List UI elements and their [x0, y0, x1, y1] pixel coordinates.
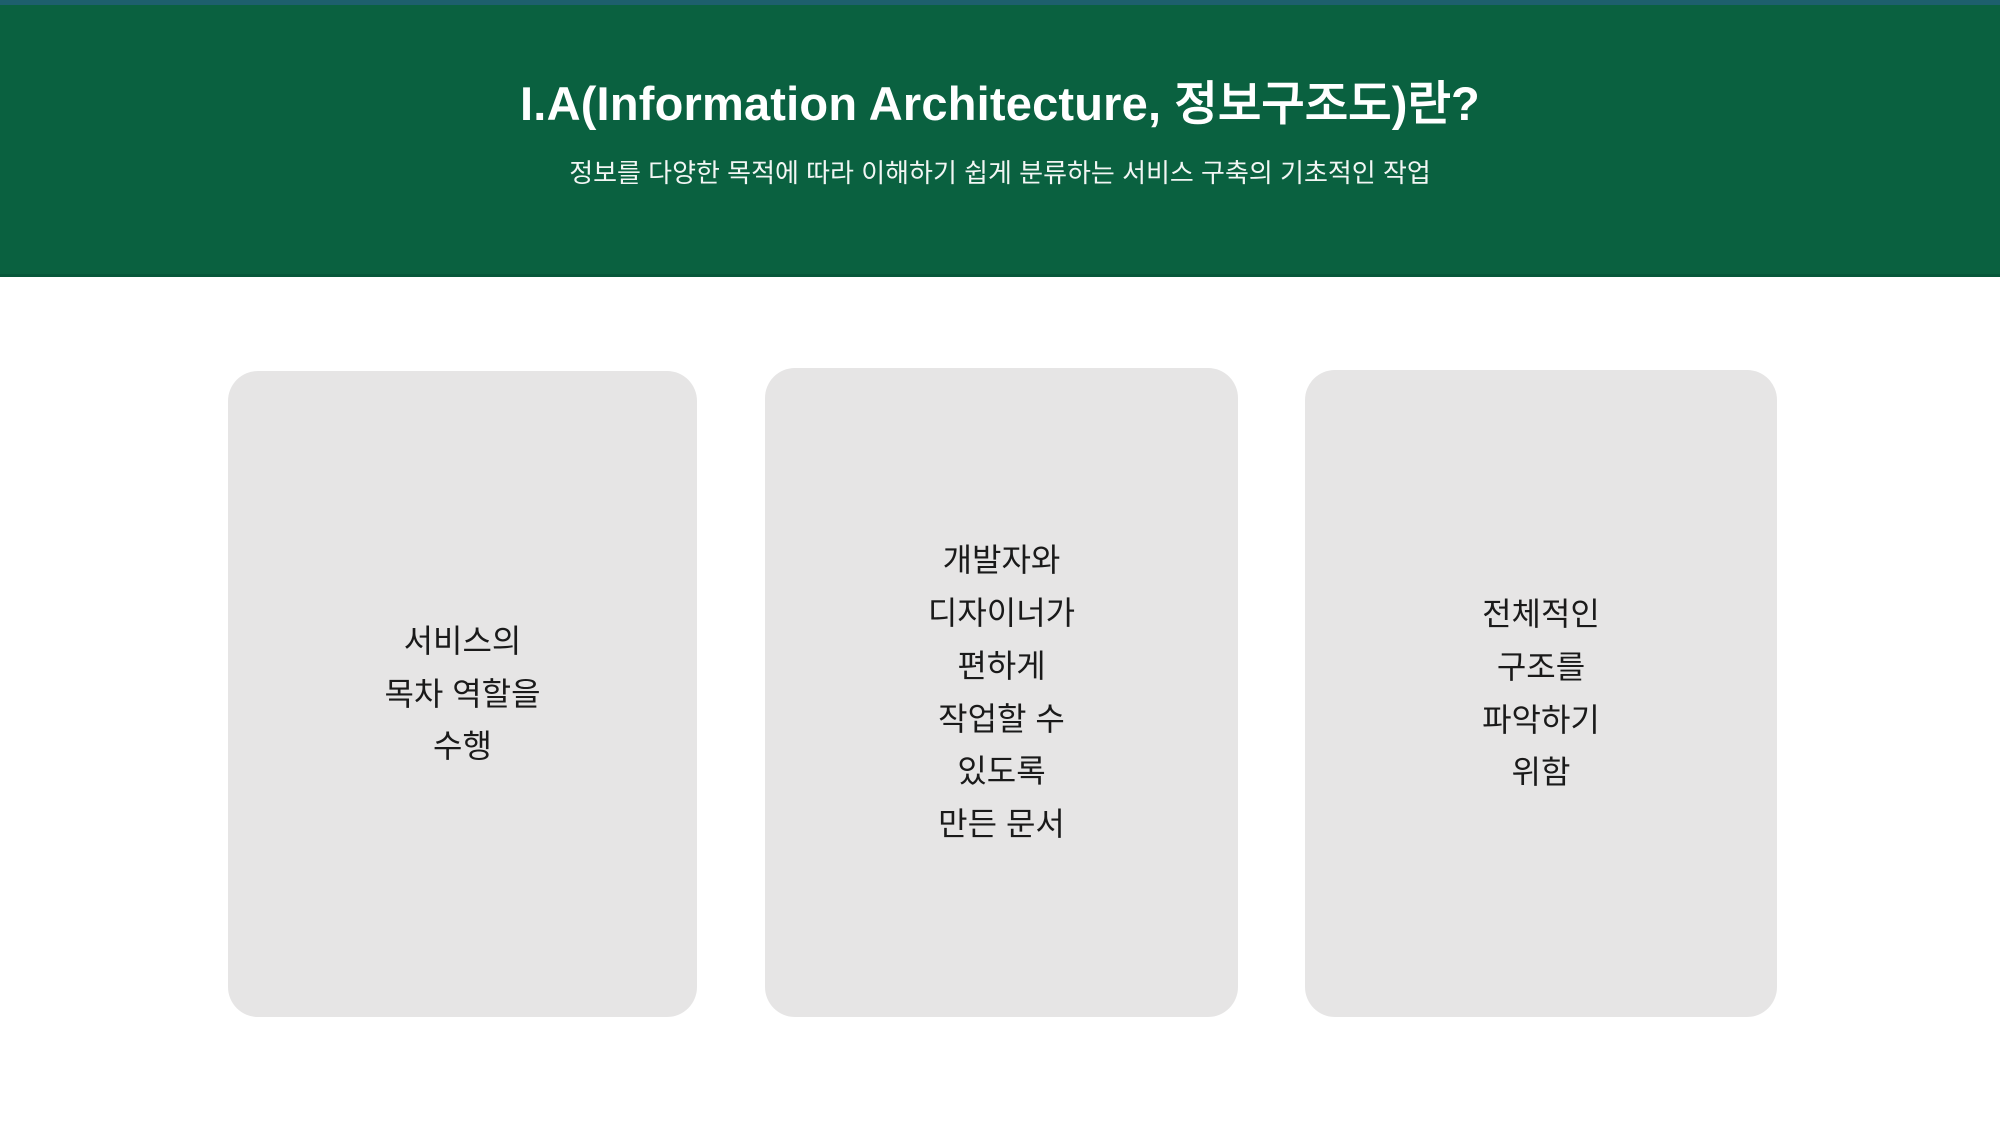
page-subtitle: 정보를 다양한 목적에 따라 이해하기 쉽게 분류하는 서비스 구축의 기초적인… [569, 157, 1431, 191]
slide-canvas: I.A(Information Architecture, 정보구조도)란? 정… [0, 0, 2000, 1125]
card-2-line-1: 개발자와 [943, 534, 1061, 587]
card-3-line-4: 위함 [1512, 746, 1571, 799]
header-band: I.A(Information Architecture, 정보구조도)란? 정… [0, 5, 2000, 277]
card-3-line-2: 구조를 [1497, 641, 1585, 694]
card-3-line-1: 전체적인 [1482, 588, 1600, 641]
card-row: 서비스의 목차 역할을 수행 개발자와 디자이너가 편하게 작업할 수 있도록 … [0, 277, 2000, 1125]
card-2-line-4: 작업할 수 [938, 693, 1065, 746]
card-2-line-6: 만든 문서 [938, 798, 1065, 851]
card-2-line-2: 디자이너가 [928, 587, 1075, 640]
card-1-line-2: 목차 역할을 [384, 668, 540, 721]
card-3-line-3: 파악하기 [1482, 694, 1600, 747]
card-2-line-3: 편하게 [957, 640, 1045, 693]
info-card-3: 전체적인 구조를 파악하기 위함 [1305, 370, 1777, 1017]
card-1-line-1: 서비스의 [404, 615, 522, 668]
card-2-line-5: 있도록 [957, 745, 1045, 798]
info-card-1: 서비스의 목차 역할을 수행 [228, 371, 697, 1017]
info-card-2: 개발자와 디자이너가 편하게 작업할 수 있도록 만든 문서 [765, 368, 1238, 1017]
page-title: I.A(Information Architecture, 정보구조도)란? [520, 77, 1480, 131]
card-1-line-3: 수행 [433, 720, 492, 773]
